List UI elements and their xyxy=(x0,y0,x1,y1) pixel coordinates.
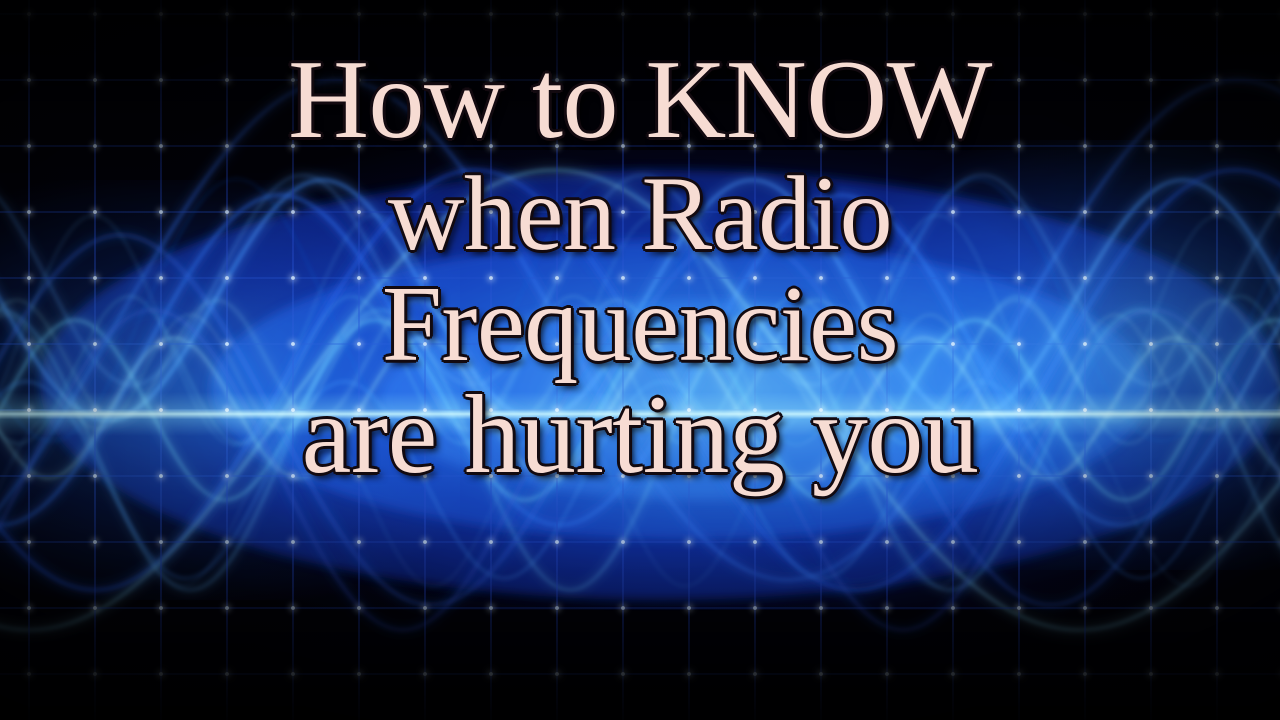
background-waveform-graphic xyxy=(0,0,1280,720)
thumbnail-canvas: How to KNOW when Radio Frequencies are h… xyxy=(0,0,1280,720)
